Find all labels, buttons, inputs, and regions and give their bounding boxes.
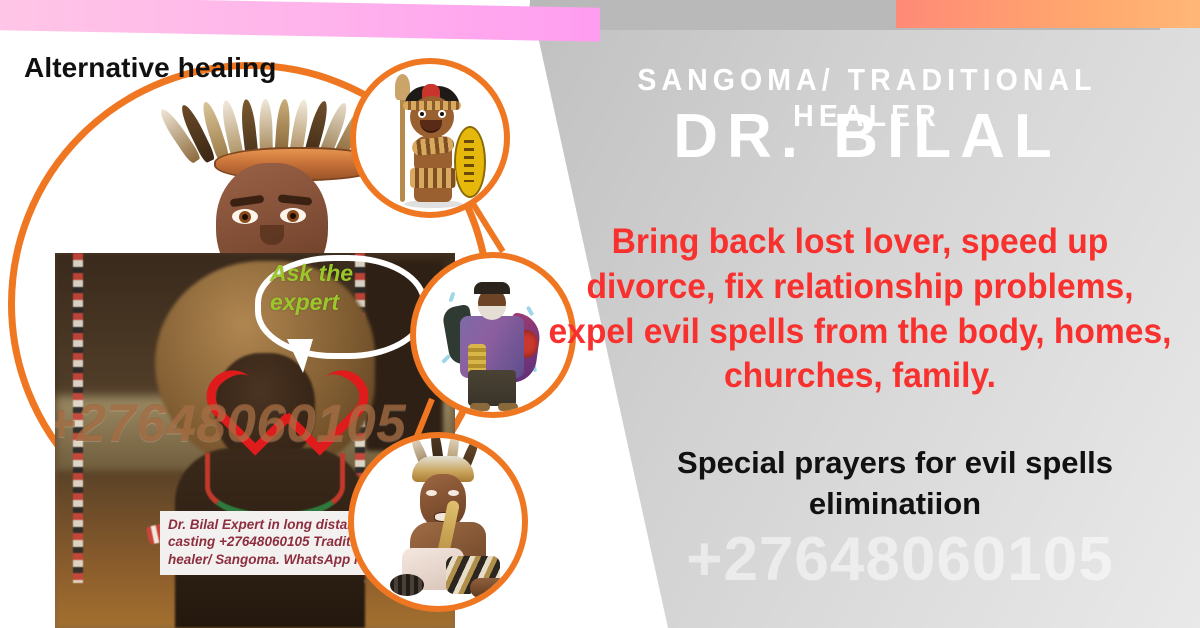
- page-title: Alternative healing: [24, 52, 276, 84]
- top-pink-strip: [0, 0, 600, 42]
- speech-bubble-text: Ask the expert: [270, 259, 410, 317]
- circle-warrior: [350, 58, 510, 218]
- contact-watermark-number: +27648060105: [600, 524, 1200, 595]
- special-offer-text: Special prayers for evil spells eliminat…: [600, 442, 1190, 524]
- circle-crouching-healer: [348, 432, 528, 612]
- speech-bubble-tail: [287, 339, 313, 373]
- top-orange-strip: [896, 0, 1200, 28]
- poster-canvas: Alternative healing: [0, 0, 1200, 628]
- healer-name: DR. BILAL: [552, 104, 1182, 169]
- services-text: Bring back lost lover, speed up divorce,…: [543, 220, 1177, 399]
